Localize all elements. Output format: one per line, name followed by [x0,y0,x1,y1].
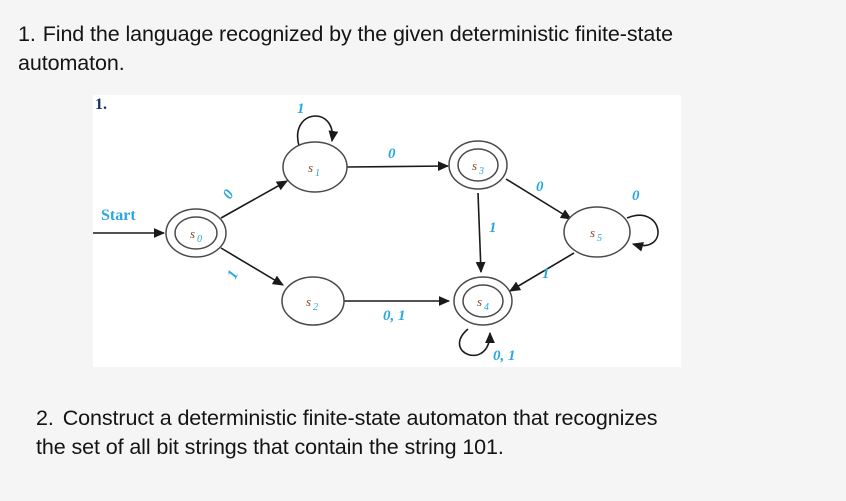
state-label-s4: s [477,294,482,309]
edge-label-s3-s5: 0 [536,179,544,195]
dfa-state-diagram: s 0 s 1 s 2 s 3 s 4 [93,95,681,367]
edge-label-s1-s3: 0 [388,146,396,162]
edge-s3-s4 [478,193,481,272]
state-node-s0[interactable]: s 0 [166,209,226,257]
edge-label-s5-s4: 1 [542,266,550,282]
question-2: 2.Construct a deterministic finite-state… [36,404,811,461]
state-node-s4[interactable]: s 4 [454,277,512,325]
question-1-line2: automaton. [18,51,125,75]
state-node-s5[interactable]: s 5 [564,207,630,257]
start-label: Start [101,207,136,224]
question-2-line1: Construct a deterministic finite-state a… [63,406,658,430]
state-sublabel-s4: 4 [484,302,489,313]
edge-label-s1-self: 1 [297,101,305,117]
edge-s0-s2 [221,248,283,285]
state-sublabel-s2: 2 [313,302,318,313]
question-1-number: 1. [18,22,36,46]
state-label-s5: s [590,225,595,240]
edge-label-s0-s2: 1 [224,268,242,282]
edge-label-s2-s4: 0, 1 [383,308,406,324]
state-label-s0: s [190,226,195,241]
state-node-s1[interactable]: s 1 [283,142,347,192]
state-sublabel-s3: 3 [478,166,484,177]
edge-label-s0-s1: 0 [220,187,238,203]
figure-caption: 1. [95,96,107,114]
state-label-s3: s [472,158,477,173]
question-2-line2: the set of all bit strings that contain … [36,433,811,462]
question-2-line1-wrap: 2.Construct a deterministic finite-state… [36,404,811,433]
edge-s5-self-loop [627,215,658,245]
edge-label-s4-self: 0, 1 [493,348,516,364]
state-sublabel-s5: 5 [597,233,602,244]
edge-s4-self-loop [459,329,490,355]
dfa-figure-panel: 1. [93,95,681,367]
state-sublabel-s0: 0 [197,234,202,245]
state-node-s3[interactable]: s 3 [449,141,507,189]
question-2-number: 2. [36,406,54,430]
question-1-line1: Find the language recognized by the give… [43,22,673,46]
state-label-s1: s [308,160,313,175]
edge-s1-s3 [346,166,448,167]
edge-label-s5-self: 0 [632,188,640,204]
question-1: 1.Find the language recognized by the gi… [18,20,818,77]
edge-label-s3-s4: 1 [489,220,497,236]
state-label-s2: s [306,294,311,309]
state-sublabel-s1: 1 [315,168,320,179]
state-node-s2[interactable]: s 2 [282,277,344,325]
